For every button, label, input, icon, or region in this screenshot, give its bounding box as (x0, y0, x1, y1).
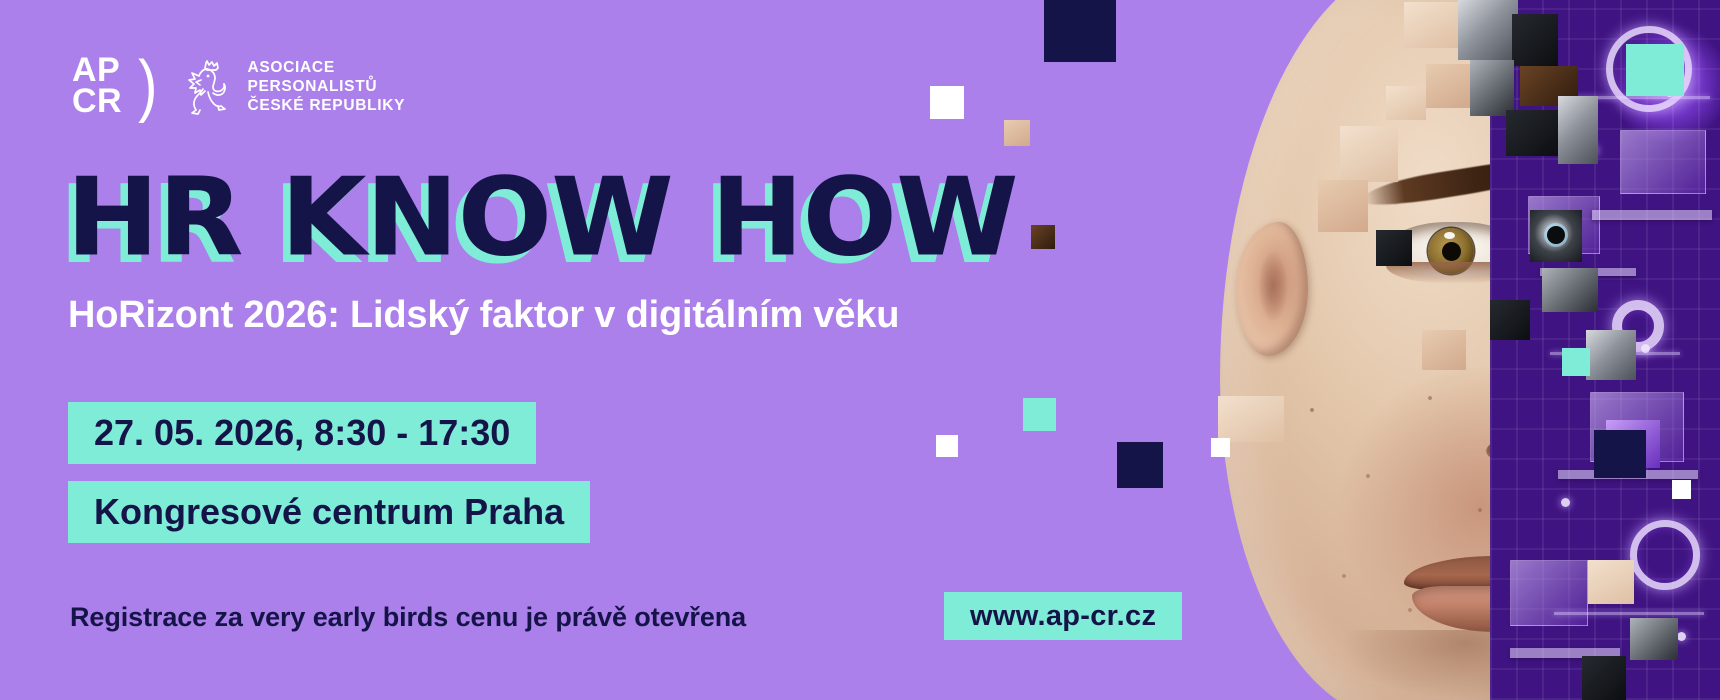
page-title: HR KNOW HOW (66, 163, 1018, 271)
lion-crest-icon (177, 56, 233, 116)
circuit-bar (1592, 210, 1712, 220)
logo-separator: ) (138, 53, 157, 119)
event-date-badge: 27. 05. 2026, 8:30 - 17:30 (68, 402, 536, 464)
glitch-tile (1404, 2, 1458, 48)
website-url-button[interactable]: www.ap-cr.cz (944, 592, 1182, 640)
accent-square-mint (1023, 398, 1056, 431)
glitch-tile-navy (1594, 430, 1646, 478)
glitch-tile (1586, 330, 1636, 380)
circuit-node (1641, 344, 1650, 353)
glitch-tile (1340, 126, 1398, 182)
eye-glint (1444, 232, 1455, 239)
glitch-tile (1506, 110, 1558, 156)
accent-square-navy (1117, 442, 1163, 488)
accent-square-navy (1044, 0, 1116, 62)
accent-square-white (930, 86, 964, 119)
glitch-tile (1512, 14, 1558, 66)
logo-org-line2: PERSONALISTŮ (247, 77, 405, 96)
logo-mark-line2: CR (72, 86, 122, 117)
logo-org-name: ASOCIACE PERSONALISTŮ ČESKÉ REPUBLIKY (247, 58, 405, 115)
glitch-tile (1588, 560, 1634, 604)
logo-wordmark: AP CR (72, 55, 122, 117)
glitch-tile (1490, 300, 1530, 340)
glitch-tile (1630, 618, 1678, 660)
apcr-logo[interactable]: AP CR ) ASOCIACE PERSONALISTŮ ČESKÉ REPU… (72, 55, 405, 117)
hero-artwork (1190, 0, 1720, 700)
event-banner: AP CR ) ASOCIACE PERSONALISTŮ ČESKÉ REPU… (0, 0, 1720, 700)
accent-square-skin (1004, 120, 1030, 146)
circuit-trace (1554, 612, 1704, 615)
glitch-tile (1422, 330, 1466, 370)
glitch-tile (1458, 0, 1518, 60)
page-subtitle: HoRizont 2026: Lidský faktor v digitální… (68, 294, 899, 337)
glitch-tile (1558, 96, 1598, 164)
registration-note: Registrace za very early birds cenu je p… (70, 602, 746, 633)
logo-org-line1: ASOCIACE (247, 58, 405, 77)
glitch-tile (1218, 396, 1284, 442)
glitch-tile-white (1672, 480, 1691, 499)
glitch-tile-mint (1562, 348, 1590, 376)
event-venue-badge: Kongresové centrum Praha (68, 481, 590, 543)
glitch-tile (1386, 86, 1426, 120)
glitch-tile (1426, 64, 1470, 108)
glitch-tile (1376, 230, 1412, 266)
logo-org-line3: ČESKÉ REPUBLIKY (247, 96, 405, 115)
accent-square-white (1211, 438, 1230, 457)
camera-lens-icon (1530, 210, 1582, 262)
accent-square-white (936, 435, 958, 457)
glitch-tile (1542, 268, 1598, 312)
circuit-node (1561, 498, 1570, 507)
circuit-node (1677, 632, 1686, 641)
circuit-plate (1620, 130, 1706, 194)
glitch-tile (1582, 656, 1626, 700)
circuit-plate (1510, 560, 1588, 626)
pupil (1442, 242, 1461, 261)
circuit-ring-icon (1630, 520, 1700, 590)
accent-square-dark (1031, 225, 1055, 249)
glitch-tile (1470, 60, 1514, 116)
glitch-tile (1318, 180, 1368, 232)
glitch-tile-mint (1626, 44, 1684, 96)
